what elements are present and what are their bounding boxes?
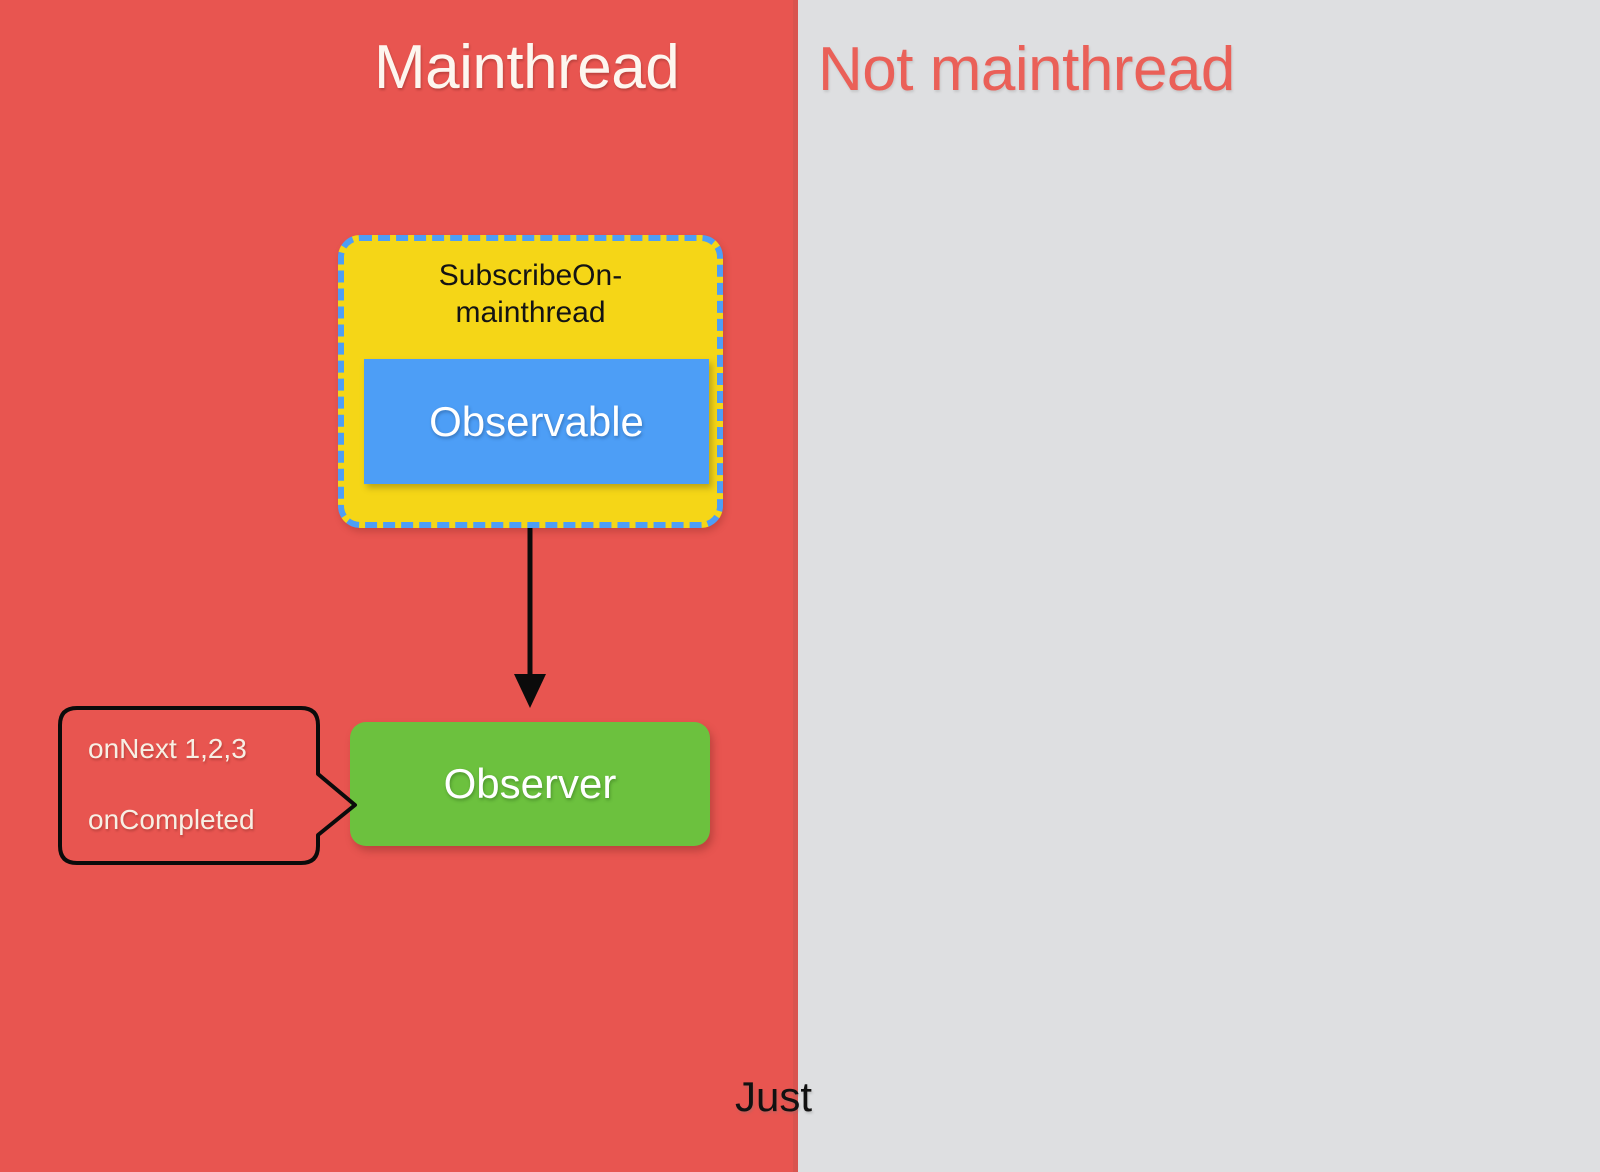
observable-label: Observable <box>429 398 644 446</box>
subscribe-on-mainthread-node[interactable]: SubscribeOn- mainthread Observable <box>338 235 723 528</box>
diagram-caption: Just <box>735 1072 812 1122</box>
observer-label: Observer <box>444 760 617 808</box>
not-mainthread-heading: Not mainthread <box>818 34 1235 106</box>
mainthread-panel <box>0 0 793 1172</box>
subscribe-on-label-line2: mainthread <box>455 296 605 329</box>
observer-node[interactable]: Observer <box>350 722 710 846</box>
mainthread-heading: Mainthread <box>374 32 679 104</box>
callout-on-next: onNext 1,2,3 <box>88 732 247 766</box>
diagram-canvas: Mainthread Not mainthread SubscribeOn- m… <box>0 0 1600 1172</box>
not-mainthread-panel <box>798 0 1600 1172</box>
observable-node[interactable]: Observable <box>364 359 709 484</box>
subscribe-on-label-line1: SubscribeOn- <box>439 259 622 292</box>
callout-on-completed: onCompleted <box>88 803 255 837</box>
subscribe-on-label: SubscribeOn- mainthread <box>344 257 717 331</box>
